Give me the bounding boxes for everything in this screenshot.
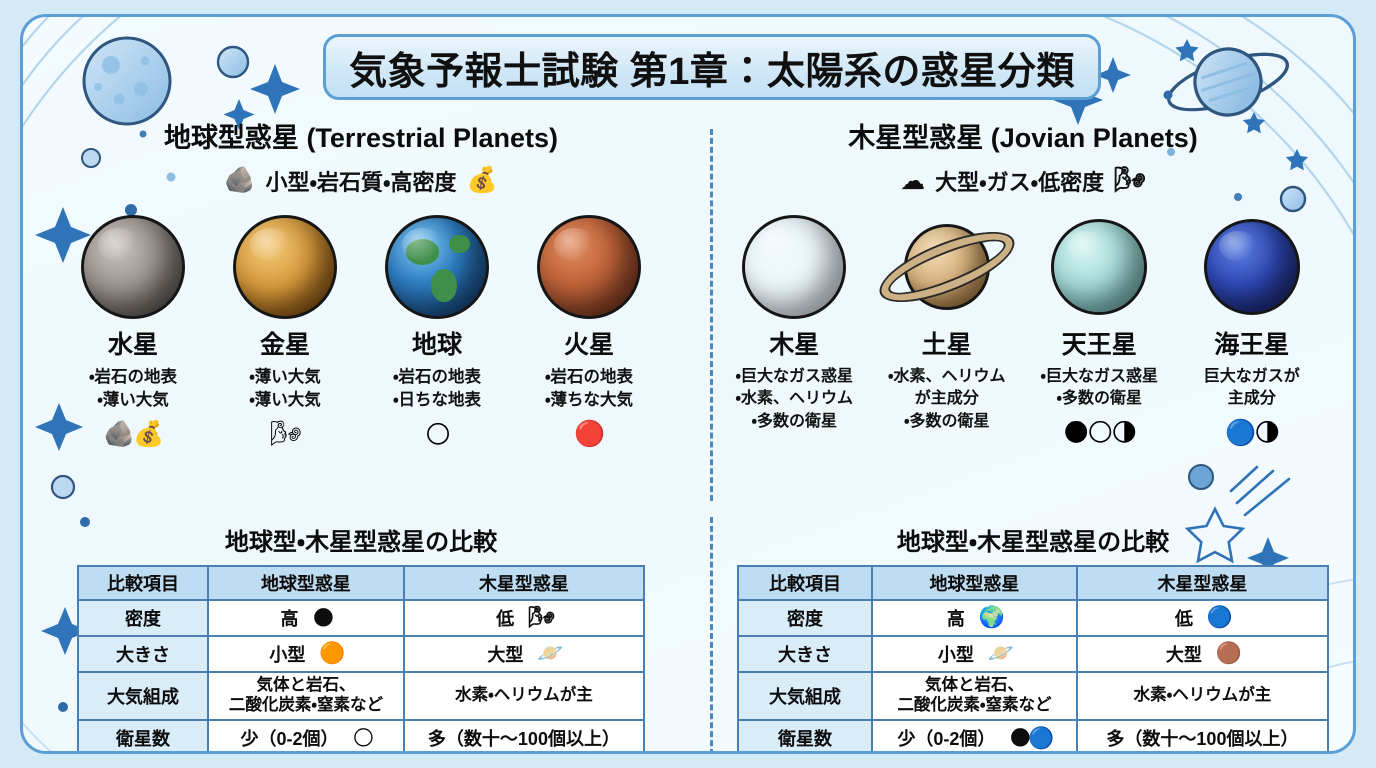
- row-terrestrial-value: 気体と岩石、二酸化炭素・窒素など: [872, 672, 1077, 720]
- planet-name: 土星: [876, 325, 1019, 361]
- terrestrial-section: 地球型惑星 (Terrestrial Planets) 🪨 小型・岩石質・高密度…: [61, 122, 661, 452]
- terrestrial-planet-row: 水星 ・岩石の地表 ・薄い大気 🪨💰 金星 ・薄い大気 ・薄い大気: [61, 213, 661, 452]
- mars-icon: [537, 215, 641, 319]
- value-text: 小型: [938, 641, 974, 667]
- comparison-right-title: 地球型・木星型惑星の比較: [723, 522, 1343, 557]
- main-panel: 気象予報士試験 第1章：太陽系の惑星分類 地球型惑星 (Terrestrial …: [20, 14, 1356, 754]
- planet-bullets: ・岩石の地表 ・日ちな地表: [366, 366, 508, 413]
- value-text: 高: [947, 605, 965, 631]
- rock-icon: 🪨: [224, 166, 255, 195]
- planet-card-saturn[interactable]: 土星 ・水素、ヘリウム が主成分 ・多数の衛星: [876, 213, 1019, 450]
- col-header-terrestrial: 地球型惑星: [208, 566, 404, 600]
- table-row: 密度 高 🌍 低 🔵: [738, 600, 1328, 636]
- planet-bullet: ・水素、ヘリウム: [723, 388, 866, 411]
- planet-bullet: ・岩石の地表: [366, 366, 508, 389]
- column-divider-top: [710, 129, 713, 501]
- jupiter-icon: [742, 215, 846, 319]
- page-title: 気象予報士試験 第1章：太陽系の惑星分類: [349, 40, 1075, 95]
- planet-bullet: ・薄ちな大気: [518, 389, 660, 412]
- planet-name: 水星: [62, 325, 204, 361]
- wind-icon: 🌬: [1114, 166, 1146, 195]
- value-text: 少（0-2個）: [897, 725, 995, 751]
- jovian-subtitle: 大型・ガス・低密度: [935, 165, 1104, 197]
- row-jovian-value: 多（数十〜100個以上）: [404, 720, 644, 754]
- table-row: 大きさ 小型 🟠 大型 🪐: [78, 636, 644, 672]
- planet-bullet: ・薄い大気: [62, 389, 204, 412]
- moons-icon: 🌑🔵: [1009, 726, 1051, 751]
- saturn-icon: 🪐: [988, 642, 1011, 666]
- comparison-right: 地球型・木星型惑星の比較 比較項目 地球型惑星 木星型惑星 密度 高: [723, 522, 1343, 754]
- column-divider-bottom: [710, 517, 713, 754]
- planet-emoji: 🌕: [366, 420, 508, 452]
- mercury-icon: 🌑: [312, 606, 331, 631]
- row-terrestrial-value: 気体と岩石、二酸化炭素・窒素など: [208, 672, 404, 720]
- planet-bullet: が主成分: [876, 388, 1019, 411]
- neptune-icon: [1204, 219, 1300, 315]
- planet-name: 地球: [366, 325, 508, 361]
- value-text: 少（0-2個）: [240, 725, 338, 751]
- value-text: 小型: [269, 641, 305, 667]
- planet-emoji: 🪨💰: [62, 420, 204, 452]
- planet-bullet: ・多数の衛星: [723, 411, 866, 434]
- planet-name: 金星: [214, 325, 356, 361]
- table-header-row: 比較項目 地球型惑星 木星型惑星: [738, 566, 1328, 600]
- row-jovian-value: 大型 🪐: [404, 636, 644, 672]
- planet-card-mars[interactable]: 火星 ・岩石の地表 ・薄ちな大気 🔴: [518, 213, 660, 452]
- row-terrestrial-value: 少（0-2個） 🌕: [208, 720, 404, 754]
- row-terrestrial-value: 小型 🪐: [872, 636, 1077, 672]
- planet-bullet: ・多数の衛星: [1028, 388, 1171, 411]
- jupiter-icon: 🟤: [1216, 642, 1239, 666]
- planet-bullet: 主成分: [1181, 388, 1324, 411]
- comparison-right-table: 比較項目 地球型惑星 木星型惑星 密度 高 🌍: [737, 565, 1329, 754]
- planet-bullets: ・水素、ヘリウム が主成分 ・多数の衛星: [876, 366, 1019, 434]
- venus-icon: [233, 215, 337, 319]
- row-label: 密度: [78, 600, 208, 636]
- planet-bullet: 巨大なガスが: [1181, 366, 1324, 389]
- planet-name: 海王星: [1181, 325, 1324, 361]
- table-header-row: 比較項目 地球型惑星 木星型惑星: [78, 566, 644, 600]
- planet-emoji: 🌬: [214, 420, 356, 452]
- planet-bullet: ・薄い大気: [214, 366, 356, 389]
- table-row: 密度 高 🌑 低 🌬: [78, 600, 644, 636]
- wind-icon: 🌬: [528, 606, 552, 630]
- jovian-subtitle-row: ☁ 大型・ガス・低密度 🌬: [723, 165, 1323, 197]
- money-bag-icon: 💰: [466, 166, 497, 195]
- col-header-jovian: 木星型惑星: [404, 566, 644, 600]
- venus-icon: 🟠: [319, 642, 342, 666]
- planet-name: 火星: [518, 325, 660, 361]
- value-text: 低: [496, 605, 514, 631]
- row-label: 大きさ: [738, 636, 872, 672]
- row-label: 大気組成: [78, 672, 208, 720]
- mercury-icon: [81, 215, 185, 319]
- planet-bullets: ・薄い大気 ・薄い大気: [214, 366, 356, 413]
- row-jovian-value: 低 🌬: [404, 600, 644, 636]
- row-label: 大きさ: [78, 636, 208, 672]
- table-row: 衛星数 少（0-2個） 🌑🔵 多（数十〜100個以上）: [738, 720, 1328, 754]
- saturn-icon: [882, 213, 1012, 321]
- planet-bullets: ・岩石の地表 ・薄ちな大気: [518, 366, 660, 413]
- value-text: 大型: [1166, 641, 1202, 667]
- col-header-jovian: 木星型惑星: [1077, 566, 1328, 600]
- planet-bullets: ・岩石の地表 ・薄い大気: [62, 366, 204, 413]
- row-terrestrial-value: 高 🌍: [872, 600, 1077, 636]
- planet-emoji: 🔵🌗: [1181, 418, 1324, 450]
- col-header-item: 比較項目: [738, 566, 872, 600]
- comparison-left-title: 地球型・木星型惑星の比較: [61, 522, 661, 557]
- jupiter-icon: 🪐: [537, 642, 560, 666]
- mercury-image-wrap: [62, 213, 204, 321]
- planet-card-earth[interactable]: 地球 ・岩石の地表 ・日ちな地表 🌕: [366, 213, 508, 452]
- earth-icon: 🌍: [979, 606, 1002, 630]
- planet-bullets: ・巨大なガス惑星 ・水素、ヘリウム ・多数の衛星: [723, 366, 866, 434]
- row-jovian-value: 低 🔵: [1077, 600, 1328, 636]
- planet-bullet: ・巨大なガス惑星: [1028, 366, 1171, 389]
- comparison-left-table: 比較項目 地球型惑星 木星型惑星 密度 高 🌑: [77, 565, 645, 754]
- table-row: 大気組成 気体と岩石、二酸化炭素・窒素など 水素・ヘリウムが主: [78, 672, 644, 720]
- uranus-icon: 🔵: [1207, 606, 1230, 630]
- row-terrestrial-value: 小型 🟠: [208, 636, 404, 672]
- earth-image-wrap: [366, 213, 508, 321]
- page-title-box: 気象予報士試験 第1章：太陽系の惑星分類: [323, 34, 1101, 100]
- col-header-item: 比較項目: [78, 566, 208, 600]
- terrestrial-subtitle: 小型・岩石質・高密度: [266, 165, 457, 197]
- planet-name: 木星: [723, 325, 866, 361]
- planet-name: 天王星: [1028, 325, 1171, 361]
- planet-card-mercury[interactable]: 水星 ・岩石の地表 ・薄い大気 🪨💰: [62, 213, 204, 452]
- row-label: 大気組成: [738, 672, 872, 720]
- earth-icon: [385, 215, 489, 319]
- planet-bullet: ・巨大なガス惑星: [723, 366, 866, 389]
- planet-bullet: ・薄い大気: [214, 389, 356, 412]
- row-jovian-value: 多（数十〜100個以上）: [1077, 720, 1328, 754]
- row-jovian-value: 大型 🟤: [1077, 636, 1328, 672]
- row-terrestrial-value: 少（0-2個） 🌑🔵: [872, 720, 1077, 754]
- cloud-icon: ☁: [900, 166, 925, 196]
- planet-bullets: ・巨大なガス惑星 ・多数の衛星: [1028, 366, 1171, 411]
- jovian-section: 木星型惑星 (Jovian Planets) ☁ 大型・ガス・低密度 🌬 木星 …: [723, 122, 1323, 450]
- value-text: 高: [280, 605, 298, 631]
- planet-bullet: ・岩石の地表: [518, 366, 660, 389]
- moon-icon: 🌕: [353, 726, 372, 751]
- venus-image-wrap: [214, 213, 356, 321]
- row-label: 密度: [738, 600, 872, 636]
- infographic-root: 気象予報士試験 第1章：太陽系の惑星分類 地球型惑星 (Terrestrial …: [0, 0, 1376, 768]
- planet-bullet: ・多数の衛星: [876, 411, 1019, 434]
- jovian-planet-row: 木星 ・巨大なガス惑星 ・水素、ヘリウム ・多数の衛星: [723, 213, 1323, 450]
- row-terrestrial-value: 高 🌑: [208, 600, 404, 636]
- table-row: 大気組成 気体と岩石、二酸化炭素・窒素など 水素・ヘリウムが主: [738, 672, 1328, 720]
- row-jovian-value: 水素・ヘリウムが主: [1077, 672, 1328, 720]
- value-text: 大型: [487, 641, 523, 667]
- table-row: 大きさ 小型 🪐 大型 🟤: [738, 636, 1328, 672]
- row-label: 衛星数: [738, 720, 872, 754]
- comparison-left: 地球型・木星型惑星の比較 比較項目 地球型惑星 木星型惑星 密度 高: [61, 522, 661, 754]
- col-header-terrestrial: 地球型惑星: [872, 566, 1077, 600]
- saturn-image-wrap: [876, 213, 1019, 321]
- planet-emoji: 🌑🌕🌗: [1028, 418, 1171, 450]
- planet-card-neptune[interactable]: 海王星 巨大なガスが 主成分 🔵🌗: [1181, 213, 1324, 450]
- planet-bullet: ・水素、ヘリウム: [876, 366, 1019, 389]
- value-text: 低: [1175, 605, 1193, 631]
- terrestrial-heading: 地球型惑星 (Terrestrial Planets): [61, 122, 661, 156]
- planet-emoji: 🔴: [518, 420, 660, 452]
- uranus-icon: [1051, 219, 1147, 315]
- planet-card-uranus[interactable]: 天王星 ・巨大なガス惑星 ・多数の衛星 🌑🌕🌗: [1028, 213, 1171, 450]
- neptune-image-wrap: [1181, 213, 1324, 321]
- planet-bullet: ・岩石の地表: [62, 366, 204, 389]
- planet-bullets: 巨大なガスが 主成分: [1181, 366, 1324, 411]
- row-label: 衛星数: [78, 720, 208, 754]
- table-row: 衛星数 少（0-2個） 🌕 多（数十〜100個以上）: [78, 720, 644, 754]
- row-jovian-value: 水素・ヘリウムが主: [404, 672, 644, 720]
- uranus-image-wrap: [1028, 213, 1171, 321]
- planet-bullet: ・日ちな地表: [366, 389, 508, 412]
- jovian-heading: 木星型惑星 (Jovian Planets): [723, 122, 1323, 156]
- jupiter-image-wrap: [723, 213, 866, 321]
- planet-card-venus[interactable]: 金星 ・薄い大気 ・薄い大気 🌬: [214, 213, 356, 452]
- mars-image-wrap: [518, 213, 660, 321]
- terrestrial-subtitle-row: 🪨 小型・岩石質・高密度 💰: [61, 165, 661, 197]
- planet-card-jupiter[interactable]: 木星 ・巨大なガス惑星 ・水素、ヘリウム ・多数の衛星: [723, 213, 866, 450]
